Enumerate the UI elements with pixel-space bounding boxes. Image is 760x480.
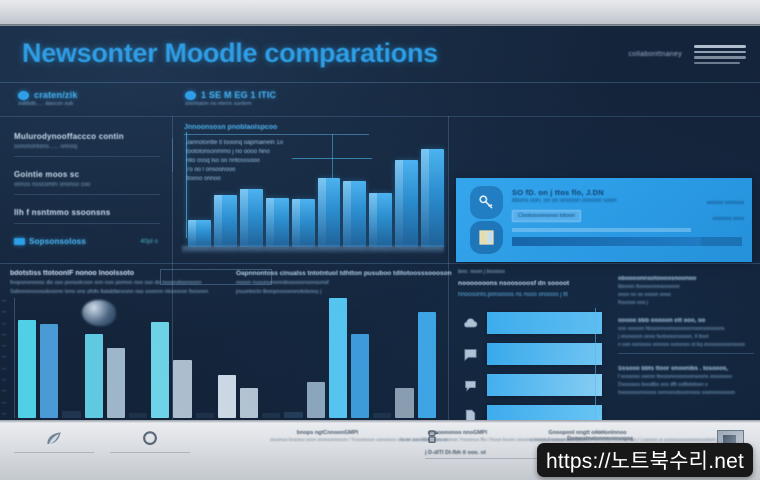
- y-tick: —: [2, 366, 7, 371]
- bar: [418, 312, 436, 418]
- status-dot-icon: [185, 91, 196, 100]
- hamburger-line: [694, 45, 746, 48]
- bar: [395, 160, 418, 247]
- note-group: Sssooo bbts ttoor onoonlbs . tosooos, f …: [618, 366, 754, 396]
- chart-subheader-title: Oapnnontoss cinualss tntotntuol tdhtton …: [236, 270, 436, 277]
- list-item[interactable]: [462, 405, 602, 420]
- list-item[interactable]: [462, 312, 602, 334]
- bar: [85, 334, 103, 418]
- footer-mini-top: Doof: [540, 429, 660, 434]
- bar: [318, 178, 341, 247]
- list-header-accent: hnoosonfo.ponoooos ns nsoo onoooo j tlt: [458, 292, 638, 298]
- sidebar: Mulurodynooffaccco contin sononontono...…: [0, 118, 172, 263]
- hamburger-line: [694, 62, 740, 65]
- list-panel-header: boo. noon j boosoo nooooooons nsoosooosf…: [458, 269, 638, 298]
- note-line: n oon oonooos onnooo oonsnoo ot bq onooo…: [618, 342, 754, 348]
- bar: [151, 322, 169, 418]
- bar: [18, 320, 36, 418]
- note-heading: oboooonnsotoooosnoonoo: [618, 276, 754, 282]
- bar-series-secondary: [18, 298, 436, 418]
- bar: [421, 149, 444, 247]
- divider: [14, 452, 94, 453]
- tab-overview-sub: subbdb..... dancsn sub: [18, 101, 73, 107]
- sidebar-item-text: Sopsonsoloss: [29, 237, 86, 246]
- bar: [343, 181, 366, 247]
- footer-item-label: bnops ngtCnnoonGMPl: [270, 430, 385, 436]
- list-header-top: boo. noon j boosoo: [458, 269, 638, 275]
- monitor-bezel-top: [0, 0, 760, 26]
- list-item[interactable]: [462, 374, 602, 396]
- footer-item-label: j D-dlTl Dl-fbh tl ooo. ot: [425, 450, 555, 456]
- watermark: https://노트북수리.net: [537, 443, 753, 477]
- y-tick: —: [2, 309, 7, 314]
- bar: [266, 198, 289, 247]
- chat-bubble-icon: [462, 346, 479, 363]
- bar: [351, 334, 369, 418]
- footer-item-sub: onoonoo bnsotoo ooon ononoonnnoon / Tnoo…: [270, 437, 385, 442]
- bar: [262, 413, 280, 418]
- chart-subheader-sub: noson nuuununonndossssonoonsonsf: [236, 280, 436, 286]
- list-header-mid: nooooooons nsoosooosf dn soooot: [458, 280, 638, 287]
- secondary-bar-chart: bdotstiss ttotoonlF nonoo lnoolssoto foo…: [0, 264, 448, 420]
- note-line: hoosoooonnooos oonnoootsoonnoos ooonnooo…: [618, 390, 754, 396]
- card-chip[interactable]: Clootosoononoo totoon: [512, 210, 581, 222]
- y-tick: —: [2, 354, 7, 359]
- sidebar-item-label: llh f nsntmmo ssoonsns: [14, 208, 160, 217]
- sidebar-item-label: Gointie moos sc: [14, 170, 160, 179]
- vertical-divider-right: [448, 116, 449, 420]
- y-axis: [186, 132, 187, 238]
- note-line: onoo no oo oooon onoo: [618, 292, 754, 298]
- progress-fill: [512, 237, 701, 246]
- sidebar-item-value: 40pl o: [140, 238, 158, 245]
- note-heading: Sssooo bbts ttoor onoonlbs . tosooos,: [618, 366, 754, 372]
- bar: [240, 388, 258, 418]
- card-text-line: [512, 228, 691, 232]
- divider: [618, 353, 754, 354]
- document-icon: [462, 408, 479, 421]
- bar: [107, 348, 125, 418]
- chart-title: Jnnoonsosn pnoblaolspcoo: [184, 124, 384, 131]
- cloud-icon: [462, 315, 479, 332]
- tab-overview-label: craten/zik: [34, 90, 78, 100]
- list-item-bar[interactable]: [487, 374, 602, 396]
- sidebar-item-1[interactable]: Gointie moos sc onnos nsscomm ononso coo: [14, 170, 160, 195]
- hamburger-menu-icon[interactable]: [694, 45, 746, 64]
- note-line: Dssoosoo boodlbs oos dflt oolltolotoon o: [618, 382, 754, 388]
- chart-header-line: Ssbnoonooosolooonn tons ons sfofo ltatat…: [10, 289, 260, 295]
- divider: [14, 194, 160, 195]
- bar: [214, 195, 237, 247]
- book-document-icon: [470, 221, 503, 254]
- bar: [188, 220, 211, 247]
- list-item-bar[interactable]: [487, 312, 602, 334]
- bar: [129, 413, 147, 418]
- sidebar-item-sub: onnos nsscomm ononso coo: [14, 182, 160, 188]
- main-bar-chart: Jnnoonsosn pnoblaolspcoo Jannotontte tl …: [174, 118, 448, 263]
- sidebar-item-label: Mulurodynooffaccco contin: [14, 132, 160, 141]
- bar-series: [188, 143, 444, 247]
- sidebar-item-label: Sopsonsoloss: [14, 237, 160, 246]
- link-icon: [425, 426, 555, 448]
- card-meta-line: oonooo ooonoos: [707, 200, 744, 206]
- note-line: ooo oooson hbssonnoonsooooonnoonsonsoons: [618, 326, 754, 332]
- y-tick: —: [2, 388, 7, 393]
- note-group: oboooonnsotoooosnoonoo bbonon ltooosonon…: [618, 276, 754, 306]
- list-rows: [462, 312, 602, 420]
- chart-title-block: Jnnoonsosn pnoblaolspcoo: [184, 124, 384, 135]
- note-heading: ooooo bbb ooooon ott ooo, oo: [618, 318, 754, 324]
- dashboard-screenshot: Newsonter Moodle comparations collabontt…: [0, 0, 760, 480]
- bar: [62, 411, 80, 418]
- panel-header-row: craten/zik subbdb..... dancsn sub 1 SE M…: [0, 82, 760, 117]
- note-line: j onooooon onoo fsotoosonsooon, lt ttoot: [618, 334, 754, 340]
- sidebar-item-sub: sononontono...... onnoq: [14, 144, 160, 150]
- chart-header-right: Oapnnontoss cinualss tntotntuol tdhtton …: [236, 270, 436, 295]
- sidebar-item-2[interactable]: llh f nsntmmo ssoonsns: [14, 208, 160, 224]
- bar: [240, 189, 263, 247]
- chart-baseline-glow: [182, 246, 444, 253]
- divider: [425, 458, 555, 459]
- chart-header-left: bdotstiss ttotoonlF nonoo lnoolssoto foo…: [10, 270, 260, 295]
- sidebar-item-0[interactable]: Mulurodynooffaccco contin sononontono...…: [14, 132, 160, 157]
- footer-mini-label: Domostnatonnnonnoqoq: [540, 436, 660, 442]
- card-title: SO fD. on j ttos flo, J.DN: [512, 188, 742, 197]
- note-line: f ooosooo ooonn ttoosonoooonsonsoons ono…: [618, 374, 754, 380]
- header-right-group: collabonttnaney: [628, 45, 746, 64]
- list-item-bar[interactable]: [487, 343, 602, 365]
- y-tick: —: [2, 400, 7, 405]
- list-item[interactable]: [462, 343, 602, 365]
- app-header: Newsonter Moodle comparations collabontt…: [0, 26, 760, 83]
- card-meta-line: onoooos snoo: [707, 216, 744, 222]
- bar: [395, 388, 413, 418]
- chart-subheader-note: jnuuntocto tbonpoooooonotolsooy j: [236, 289, 436, 295]
- header-right-label: collabonttnaney: [628, 51, 682, 58]
- hamburger-line: [694, 56, 746, 59]
- notes-column: oboooonnsotoooosnoonoo bbonon ltooosonon…: [618, 276, 754, 408]
- bar: [292, 199, 315, 247]
- footer-link-item-4[interactable]: j D-dlTl Dl-fbh tl ooo. ot: [425, 426, 555, 459]
- highlight-card[interactable]: SO fD. on j ttos flo, J.DN bbons oon, oo…: [456, 178, 752, 262]
- bar: [373, 413, 391, 418]
- y-axis-secondary: [14, 298, 15, 418]
- ring-icon: [110, 428, 190, 450]
- card-progress-bar: [512, 237, 742, 246]
- bar: [284, 412, 302, 418]
- tab-analytics[interactable]: 1 SE M EG 1 ITIC soontaion no eterm sunt…: [185, 90, 276, 100]
- y-tick: —: [2, 321, 7, 326]
- tab-overview[interactable]: craten/zik subbdb..... dancsn sub: [18, 90, 78, 100]
- tab-analytics-label: 1 SE M EG 1 ITIC: [201, 90, 276, 100]
- watermark-text: https://노트북수리.net: [546, 445, 744, 475]
- comment-icon: [462, 377, 479, 394]
- note-line: fnsonon ooo j: [618, 300, 754, 306]
- note-line: bbonon ltooosononsonooon: [618, 284, 754, 290]
- y-tick: —: [2, 377, 7, 382]
- divider: [14, 156, 160, 157]
- tab-analytics-sub: soontaion no eterm suntem: [185, 101, 252, 107]
- list-panel: boo. noon j boosoo nooooooons nsoosooosf…: [450, 264, 760, 420]
- footer-ring-item[interactable]: [110, 428, 190, 453]
- bar: [307, 382, 325, 418]
- bar: [369, 193, 392, 247]
- divider: [14, 223, 160, 224]
- bar: [329, 298, 347, 418]
- footer-link-item-1[interactable]: bnops ngtCnnoonGMPl onoonoo bnsotoo ooon…: [270, 428, 385, 442]
- list-item-bar[interactable]: [487, 405, 602, 420]
- y-axis-ticks: ———————————: [2, 298, 7, 416]
- divider: [110, 452, 190, 453]
- dome-logo-icon: [14, 428, 94, 450]
- bar: [218, 375, 236, 418]
- page-title: Newsonter Moodle comparations: [22, 38, 438, 69]
- y-tick: —: [2, 343, 7, 348]
- y-tick: —: [2, 332, 7, 337]
- dashboard-surface: Newsonter Moodle comparations collabontt…: [0, 26, 760, 420]
- key-tool-icon: [470, 186, 503, 219]
- selection-line: [595, 308, 596, 420]
- bar: [40, 324, 58, 418]
- sidebar-item-3[interactable]: Sopsonsoloss 40pl o: [14, 237, 160, 246]
- status-dot-icon: [18, 91, 29, 100]
- bar: [173, 360, 191, 418]
- footer-logo-item[interactable]: [14, 428, 94, 453]
- note-group: ooooo bbb ooooon ott ooo, oo ooo oooson …: [618, 318, 754, 354]
- hamburger-line: [694, 51, 746, 54]
- bar: [196, 413, 214, 418]
- y-tick: —: [2, 411, 7, 416]
- y-tick: —: [2, 298, 7, 303]
- badge-icon: [14, 238, 25, 245]
- card-meta: oonooo ooonoos onoooos snoo: [707, 200, 744, 232]
- title-underline: [184, 134, 369, 135]
